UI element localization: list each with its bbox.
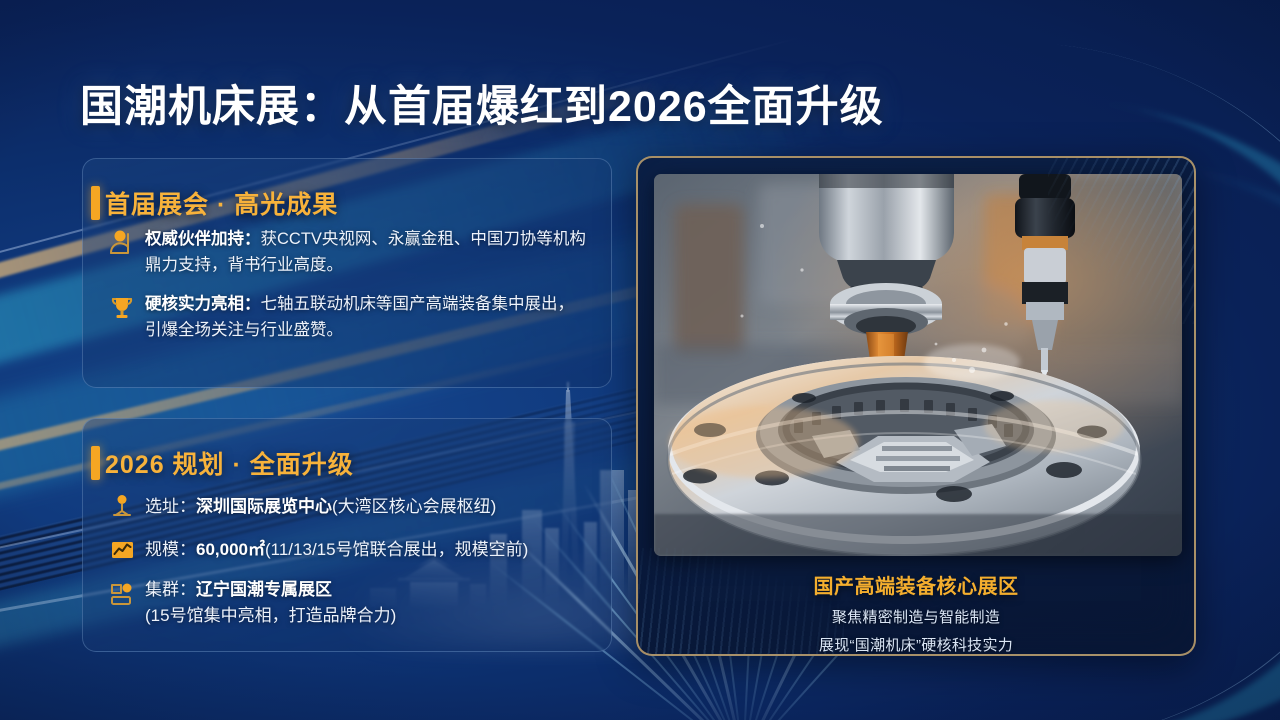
list-item-text: 集群：辽宁国潮专属展区(15号馆集中亮相，打造品牌合力) [145, 577, 396, 628]
list-item: 硬核实力亮相：七轴五联动机床等国产高端装备集中展出，引爆全场关注与行业盛赞。 [105, 292, 587, 343]
list-item-emphasis: 深圳国际展览中心 [196, 497, 332, 516]
growth-chart-icon [105, 534, 139, 566]
list-item-body: (11/13/15号馆联合展出，规模空前) [265, 540, 528, 559]
list-item: 规模：60,000㎡(11/13/15号馆联合展出，规模空前) [105, 534, 587, 566]
list-item-emphasis: 60,000㎡ [196, 540, 265, 559]
list-item-label: 权威伙伴加持： [145, 230, 261, 248]
card-header: 2026 规划 · 全面升级 [105, 445, 611, 481]
list-item-label: 集群： [145, 580, 196, 599]
list-item: 选址：深圳国际展览中心(大湾区核心会展枢纽) [105, 491, 587, 523]
caption-title: 国产高端装备核心展区 [638, 570, 1194, 599]
handshake-partner-icon [105, 227, 139, 259]
caption-line: 聚焦精密制造与智能制造 [638, 606, 1194, 627]
list-item-body: (15号馆集中亮相，打造品牌合力) [145, 606, 396, 625]
list-item-body: (大湾区核心会展枢纽) [332, 497, 496, 516]
list-item-text: 权威伙伴加持：获CCTV央视网、永赢金租、中国刀协等机构鼎力支持，背书行业高度。 [145, 227, 587, 278]
list-item-text: 硬核实力亮相：七轴五联动机床等国产高端装备集中展出，引爆全场关注与行业盛赞。 [145, 292, 587, 343]
location-pin-icon [105, 491, 139, 523]
list-item-label: 规模： [145, 540, 196, 559]
bullet-list: 选址：深圳国际展览中心(大湾区核心会展枢纽) 规模：60,000㎡(11/13/… [105, 491, 587, 628]
list-item-label: 选址： [145, 497, 196, 516]
list-item: 权威伙伴加持：获CCTV央视网、永赢金租、中国刀协等机构鼎力支持，背书行业高度。 [105, 227, 587, 278]
card-title: 首届展会 · 高光成果 [105, 185, 338, 221]
card-header: 首届展会 · 高光成果 [105, 185, 611, 221]
list-item-emphasis: 辽宁国潮专属展区 [196, 580, 332, 599]
panel-caption: 国产高端装备核心展区 聚焦精密制造与智能制造 展现“国潮机床”硬核科技实力 [638, 570, 1194, 655]
trophy-icon [105, 292, 139, 324]
cluster-group-icon [105, 579, 139, 611]
accent-bar [91, 446, 100, 480]
list-item: 集群：辽宁国潮专属展区(15号馆集中亮相，打造品牌合力) [105, 577, 587, 628]
cnc-machining-photo [654, 174, 1182, 556]
accent-bar [91, 186, 100, 220]
list-item-text: 选址：深圳国际展览中心(大湾区核心会展枢纽) [145, 494, 496, 520]
list-item-label: 硬核实力亮相： [145, 295, 261, 313]
bullet-list: 权威伙伴加持：获CCTV央视网、永赢金租、中国刀协等机构鼎力支持，背书行业高度。… [105, 227, 587, 343]
card-first-expo: 首届展会 · 高光成果 权威伙伴加持：获CCTV央视网、永赢金租、中国刀协等机构… [82, 158, 612, 388]
card-plan-2026: 2026 规划 · 全面升级 选址：深圳国际展览中心(大湾区核心会展枢纽) 规模… [82, 418, 612, 652]
card-title: 2026 规划 · 全面升级 [105, 445, 354, 481]
page-title: 国潮机床展：从首届爆红到2026全面升级 [80, 72, 884, 134]
list-item-text: 规模：60,000㎡(11/13/15号馆联合展出，规模空前) [145, 537, 528, 563]
feature-panel: 国产高端装备核心展区 聚焦精密制造与智能制造 展现“国潮机床”硬核科技实力 [636, 156, 1196, 656]
caption-line: 展现“国潮机床”硬核科技实力 [638, 634, 1194, 655]
